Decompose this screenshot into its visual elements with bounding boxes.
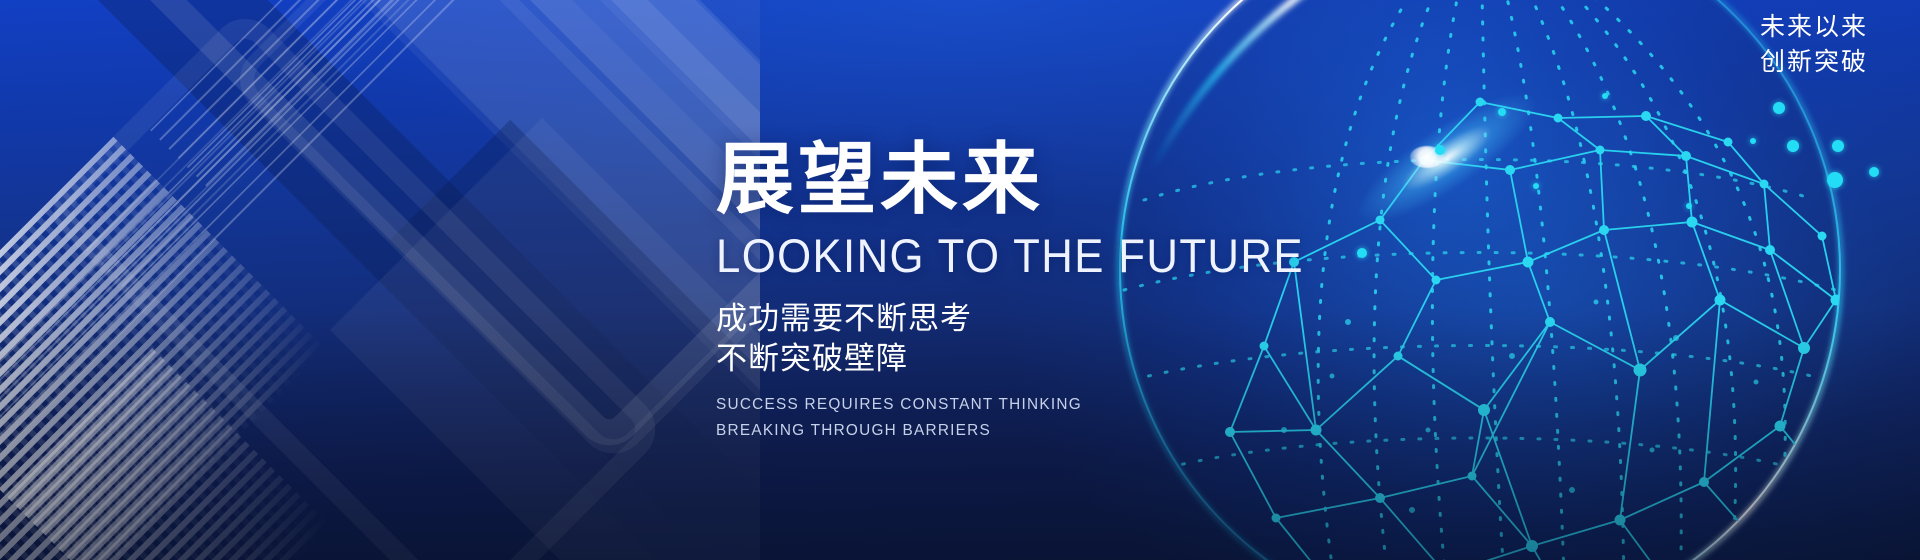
- particle-dot: [1435, 145, 1445, 155]
- caption-en-line1: SUCCESS REQUIRES CONSTANT THINKING: [716, 392, 1407, 418]
- subheadline-cn: 成功需要不断思考 不断突破壁障: [716, 299, 1436, 380]
- particle-dot: [1498, 108, 1506, 116]
- caption-en: SUCCESS REQUIRES CONSTANT THINKING BREAK…: [716, 392, 1407, 444]
- particle-dot: [1787, 140, 1799, 152]
- particle-dot: [1750, 138, 1756, 144]
- particle-dot: [1533, 183, 1539, 189]
- particle-dot: [1827, 172, 1843, 188]
- particle-dot: [1869, 167, 1879, 177]
- left-geometric-decoration: [0, 0, 760, 560]
- caption-en-line2: BREAKING THROUGH BARRIERS: [716, 418, 1407, 444]
- corner-slogan-line1: 未来以来: [1760, 10, 1868, 45]
- banner-root: 未来以来 创新突破 展望未来 LOOKING TO THE FUTURE 成功需…: [0, 0, 1920, 560]
- headline-block: 展望未来 LOOKING TO THE FUTURE 成功需要不断思考 不断突破…: [716, 140, 1436, 443]
- subheadline-cn-line2: 不断突破壁障: [716, 339, 1436, 379]
- subheadline-cn-line1: 成功需要不断思考: [716, 299, 1436, 339]
- particle-dot: [1773, 102, 1785, 114]
- particle-dot: [1832, 140, 1844, 152]
- headline-cn: 展望未来: [716, 140, 1436, 218]
- particle-dot: [1602, 93, 1608, 99]
- particle-dot: [1686, 203, 1692, 209]
- headline-en: LOOKING TO THE FUTURE: [716, 232, 1386, 279]
- corner-slogan-line2: 创新突破: [1760, 45, 1868, 80]
- corner-slogan: 未来以来 创新突破: [1760, 10, 1868, 80]
